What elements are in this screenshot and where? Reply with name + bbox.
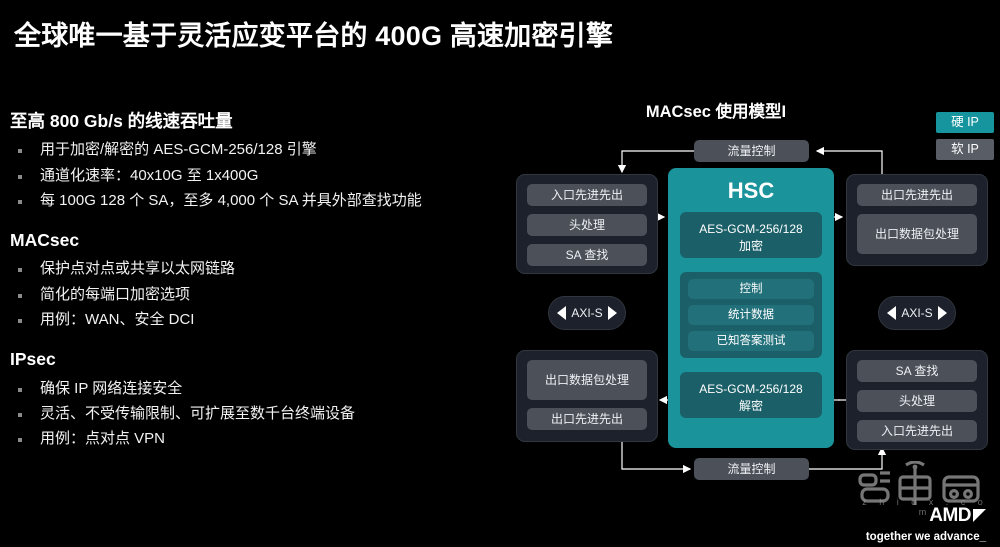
amd-logo: AMD <box>929 505 986 527</box>
diagram-title: MACsec 使用模型I <box>506 98 926 122</box>
section-heading-ipsec: IPsec <box>10 346 508 372</box>
list-item-label: 用例：点对点 VPN <box>40 427 165 451</box>
bullet-icon <box>18 268 22 272</box>
block-egress-fifo: 出口先进先出 <box>527 408 647 430</box>
slide-root: 全球唯一基于灵活应变平台的 400G 高速加密引擎 至高 800 Gb/s 的线… <box>0 0 1000 547</box>
legend-item-hard-ip: 硬 IP <box>936 112 994 133</box>
block-aes-gcm-decrypt-line2: 解密 <box>684 398 818 415</box>
block-egress-packet-processing: 出口数据包处理 <box>857 214 977 254</box>
arrow-right-icon <box>938 306 947 320</box>
block-aes-gcm-encrypt-line2: 加密 <box>684 238 818 255</box>
bus-label: AXI-S <box>571 306 602 320</box>
list-item-label: 用于加密/解密的 AES-GCM-256/128 引擎 <box>40 138 317 162</box>
block-known-answer-test: 已知答案测试 <box>688 331 814 351</box>
block-aes-gcm-encrypt: AES-GCM-256/128 加密 <box>680 212 822 258</box>
legend-item-soft-ip: 软 IP <box>936 139 994 160</box>
feature-list: 至高 800 Gb/s 的线速吞吐量 用于加密/解密的 AES-GCM-256/… <box>8 108 508 463</box>
panel-ingress-left: 入口先进先出 头处理 SA 查找 <box>516 174 658 274</box>
bullet-icon <box>18 175 22 179</box>
bus-axi-s-right: AXI-S <box>878 296 956 330</box>
amd-wordmark: AMD <box>929 505 971 527</box>
list-item: 用例：点对点 VPN <box>8 427 508 451</box>
list-item: 用于加密/解密的 AES-GCM-256/128 引擎 <box>8 138 508 162</box>
block-ingress-fifo: 入口先进先出 <box>857 420 977 442</box>
block-sa-lookup: SA 查找 <box>527 244 647 266</box>
block-aes-gcm-decrypt-line1: AES-GCM-256/128 <box>684 381 818 398</box>
block-header-processing: 头处理 <box>527 214 647 236</box>
hsc-control-group: 控制 统计数据 已知答案测试 <box>680 272 822 358</box>
macsec-architecture-diagram: MACsec 使用模型I 硬 IP 软 IP <box>506 88 1000 488</box>
list-item: 保护点对点或共享以太网链路 <box>8 257 508 281</box>
section-ipsec: IPsec 确保 IP 网络连接安全 灵活、不受传输限制、可扩展至数千台终端设备… <box>8 346 508 451</box>
arrow-left-icon <box>557 306 566 320</box>
amd-arrow-icon <box>973 509 986 522</box>
bullet-icon <box>18 149 22 153</box>
list-item-label: 通道化速率：40x10G 至 1x400G <box>40 164 258 188</box>
list-item-label: 灵活、不受传输限制、可扩展至数千台终端设备 <box>40 402 355 426</box>
flow-control-top: 流量控制 <box>694 140 809 162</box>
list-item: 通道化速率：40x10G 至 1x400G <box>8 164 508 188</box>
page-title: 全球唯一基于灵活应变平台的 400G 高速加密引擎 <box>14 14 613 53</box>
list-item-label: 简化的每端口加密选项 <box>40 283 190 307</box>
list-item-label: 每 100G 128 个 SA，至多 4,000 个 SA 并具外部查找功能 <box>40 189 422 213</box>
hsc-title: HSC <box>680 178 822 204</box>
section-heading-macsec: MACsec <box>10 227 508 253</box>
block-aes-gcm-encrypt-line1: AES-GCM-256/128 <box>684 221 818 238</box>
list-item: 简化的每端口加密选项 <box>8 283 508 307</box>
block-egress-packet-processing: 出口数据包处理 <box>527 360 647 400</box>
arrow-left-icon <box>887 306 896 320</box>
legend: 硬 IP 软 IP <box>936 112 996 166</box>
section-throughput: 至高 800 Gb/s 的线速吞吐量 用于加密/解密的 AES-GCM-256/… <box>8 108 508 213</box>
block-ingress-fifo: 入口先进先出 <box>527 184 647 206</box>
flow-control-bottom: 流量控制 <box>694 458 809 480</box>
block-statistics: 统计数据 <box>688 305 814 325</box>
section-heading-throughput: 至高 800 Gb/s 的线速吞吐量 <box>10 108 508 134</box>
block-sa-lookup: SA 查找 <box>857 360 977 382</box>
list-item: 每 100G 128 个 SA，至多 4,000 个 SA 并具外部查找功能 <box>8 189 508 213</box>
bullet-icon <box>18 438 22 442</box>
list-item-label: 保护点对点或共享以太网链路 <box>40 257 235 281</box>
list-item: 确保 IP 网络连接安全 <box>8 377 508 401</box>
list-item-label: 确保 IP 网络连接安全 <box>40 377 182 401</box>
bullet-icon <box>18 294 22 298</box>
bullet-icon <box>18 200 22 204</box>
bullet-icon <box>18 413 22 417</box>
hsc-block: HSC AES-GCM-256/128 加密 控制 统计数据 已知答案测试 AE… <box>668 168 834 448</box>
block-aes-gcm-decrypt: AES-GCM-256/128 解密 <box>680 372 822 418</box>
panel-ingress-right: SA 查找 头处理 入口先进先出 <box>846 350 988 450</box>
bullet-icon <box>18 319 22 323</box>
list-item-label: 用例：WAN、安全 DCI <box>40 308 194 332</box>
list-item: 灵活、不受传输限制、可扩展至数千台终端设备 <box>8 402 508 426</box>
panel-egress-left: 出口数据包处理 出口先进先出 <box>516 350 658 442</box>
section-macsec: MACsec 保护点对点或共享以太网链路 简化的每端口加密选项 用例：WAN、安… <box>8 227 508 332</box>
block-header-processing: 头处理 <box>857 390 977 412</box>
bus-axi-s-left: AXI-S <box>548 296 626 330</box>
bus-label: AXI-S <box>901 306 932 320</box>
amd-tagline: together we advance_ <box>866 531 986 543</box>
arrow-right-icon <box>608 306 617 320</box>
panel-egress-right: 出口先进先出 出口数据包处理 <box>846 174 988 266</box>
block-egress-fifo: 出口先进先出 <box>857 184 977 206</box>
block-control: 控制 <box>688 279 814 299</box>
bullet-icon <box>18 388 22 392</box>
list-item: 用例：WAN、安全 DCI <box>8 308 508 332</box>
